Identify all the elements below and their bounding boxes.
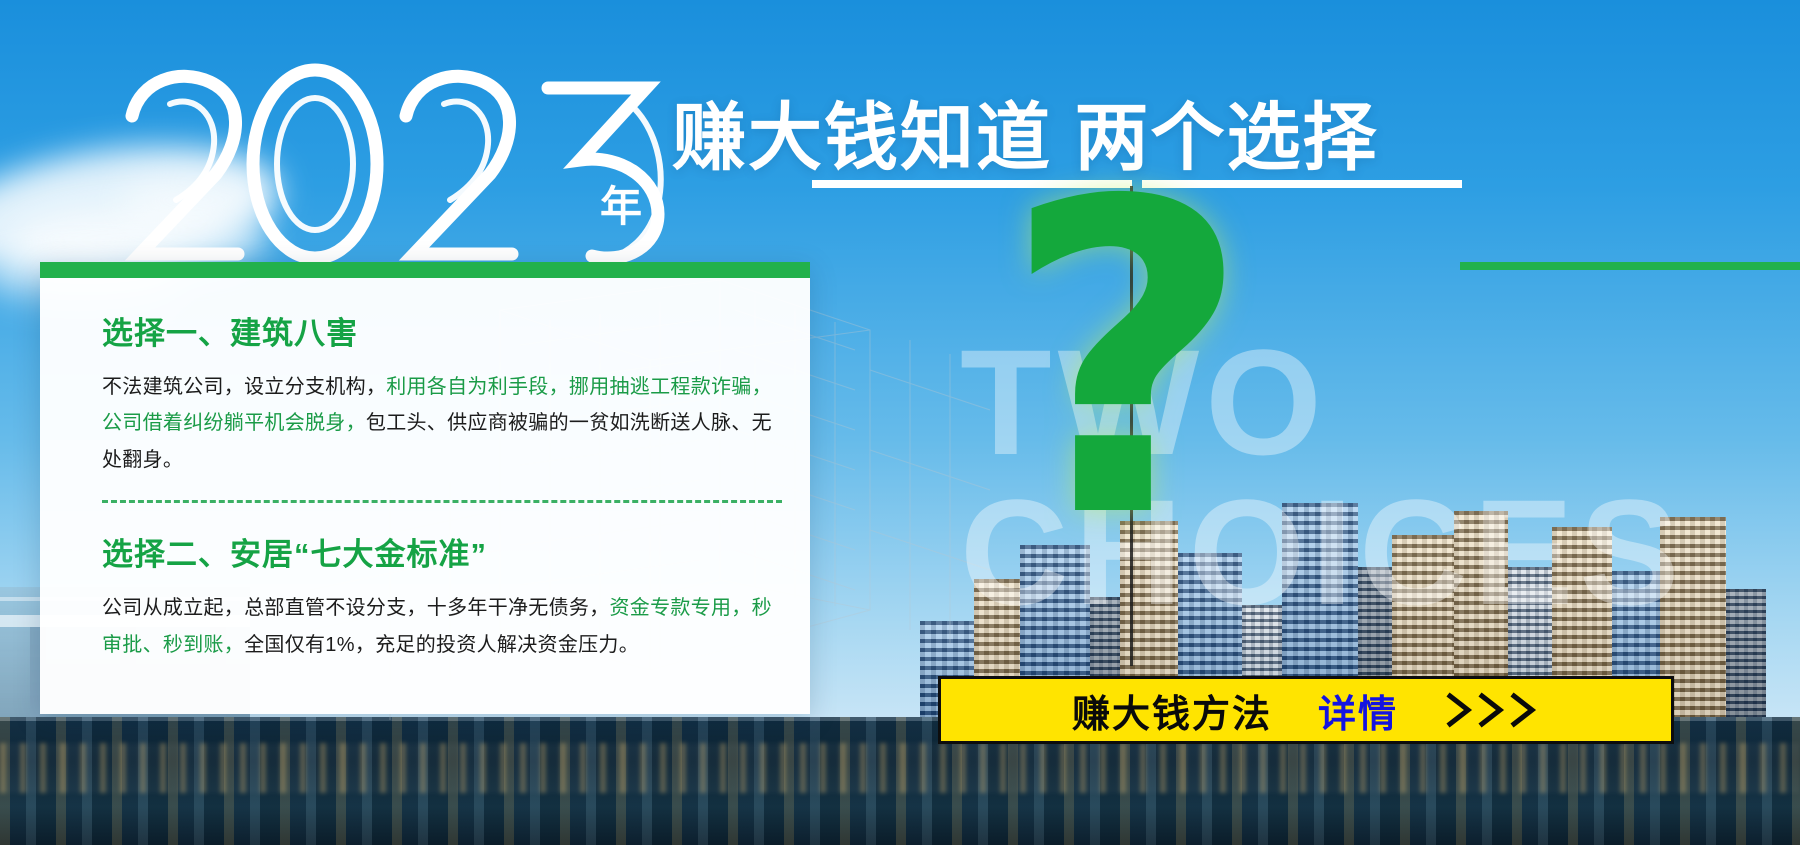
question-mark-icon: ? [1002,208,1251,518]
section-divider [102,500,782,503]
content-card: 选择一、建筑八害 不法建筑公司，设立分支机构，利用各自为利手段，挪用抽逃工程款诈… [40,262,810,714]
year-2023-graphic [110,58,710,268]
section-two-body: 公司从成立起，总部直管不设分支，十多年干净无债务，资金专款专用，秒审批、秒到账，… [102,590,782,663]
section-one-body: 不法建筑公司，设立分支机构，利用各自为利手段，挪用抽逃工程款诈骗，公司借着纠纷躺… [102,369,782,478]
right-accent-bar [1460,262,1800,270]
banner-root: 年 赚大钱知道 两个选择 TWO CHOICES ? 选择一、建筑八害 不法建筑… [0,0,1800,845]
section-one-title: 选择一、建筑八害 [102,308,782,353]
body-run: 不法建筑公司，设立分支机构， [102,376,386,398]
cta-banner[interactable]: 赚大钱方法 详情 [938,676,1674,744]
year-suffix-label: 年 [600,186,643,228]
card-top-accent-bar [40,262,810,278]
body-run: 全国仅有1%，充足的投资人解决资金压力。 [244,634,639,656]
cta-detail-link[interactable]: 详情 [1318,683,1398,738]
body-run: 公司从成立起，总部直管不设分支，十多年干净无债务， [102,597,610,619]
section-two-title: 选择二、安居“七大金标准” [102,529,782,574]
cta-label: 赚大钱方法 [1072,683,1272,738]
chevron-right-icon [1444,690,1540,730]
